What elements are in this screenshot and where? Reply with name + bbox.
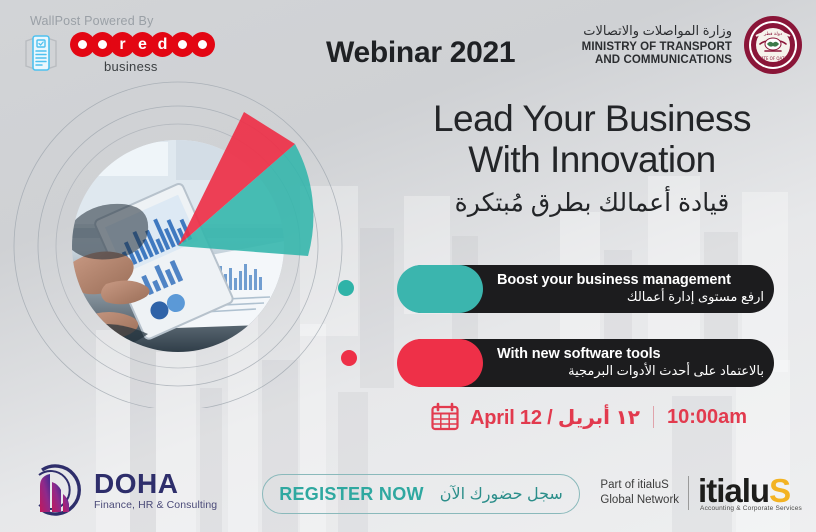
doha-gradient-arc-logo [28, 462, 86, 518]
feature-cap-red [397, 339, 483, 387]
feature-0-arabic: ارفع مستوى إدارة أعمالك [497, 289, 764, 306]
headline-block: Lead Your Business With Innovation قيادة… [384, 98, 800, 219]
feature-1-arabic: بالاعتماد على أحدث الأدوات البرمجية [497, 363, 764, 380]
wallpost-powered-label: WallPost Powered By [30, 14, 233, 28]
register-label-english: REGISTER NOW [279, 484, 424, 505]
qatar-state-emblem: دولة قطر STATE OF QATAR [742, 14, 804, 76]
datetime-row: April 12 / ١٢ أبريل 10:00am [430, 402, 747, 432]
svg-text:STATE OF QATAR: STATE OF QATAR [756, 56, 790, 61]
itialus-partof-line1: Part of itialuS [600, 478, 679, 494]
feature-1-english: With new software tools [497, 346, 764, 363]
hero-circle-graphic [8, 78, 388, 408]
webinar-title: Webinar 2021 [326, 36, 515, 70]
webinar-date: April 12 / ١٢ أبريل [470, 405, 640, 430]
ministry-name-arabic: وزارة المواصلات والاتصالات [582, 23, 732, 39]
itialus-partof-line2: Global Network [600, 493, 679, 509]
teal-dot [338, 280, 354, 296]
itialus-partof-text: Part of itialuS Global Network [600, 478, 679, 509]
itialus-word-s: S [769, 472, 790, 509]
ministry-en-line1: MINISTRY OF TRANSPORT [582, 41, 732, 54]
register-now-button[interactable]: REGISTER NOW سجل حضورك الآن [262, 474, 580, 514]
register-label-arabic: سجل حضورك الآن [440, 484, 563, 504]
webinar-banner: WallPost Powered By [0, 0, 816, 532]
ministry-logo-block: وزارة المواصلات والاتصالات MINISTRY OF T… [582, 14, 804, 76]
document-stack-icon [18, 31, 64, 75]
calendar-icon [430, 402, 460, 432]
ministry-en-line2: AND COMMUNICATIONS [582, 54, 732, 67]
wallpost-ooredoo-lockup: WallPost Powered By [18, 14, 233, 75]
feature-cap-teal [397, 265, 483, 313]
itialus-tagline: Accounting & Corporate Services [700, 506, 802, 513]
webinar-time: 10:00am [667, 406, 747, 429]
feature-pill-software: With new software tools بالاعتماد على أح… [398, 339, 774, 387]
ministry-name-english: MINISTRY OF TRANSPORT AND COMMUNICATIONS [582, 41, 732, 67]
feature-0-english: Boost your business management [497, 272, 764, 289]
svg-text:دولة قطر: دولة قطر [763, 32, 782, 37]
itialus-logo-block: Part of itialuS Global Network itialuS A… [600, 474, 802, 513]
headline-line-2: With Innovation [384, 139, 800, 180]
ooredoo-business-label: business [104, 59, 158, 74]
red-dot [341, 350, 357, 366]
headline-line-1: Lead Your Business [384, 98, 800, 139]
itialus-divider [688, 476, 689, 510]
headline-arabic: قيادة أعمالك بطرق مُبتكرة [384, 188, 800, 219]
feature-pill-boost: Boost your business management ارفع مستو… [398, 265, 774, 313]
doha-name: DOHA [94, 470, 217, 498]
datetime-divider [653, 406, 654, 428]
doha-tagline: Finance, HR & Consulting [94, 500, 217, 511]
doha-logo: DOHA Finance, HR & Consulting [28, 462, 217, 518]
itialus-wordmark: itialuS [698, 474, 802, 507]
ooredoo-wordmark: r e d [70, 32, 210, 57]
itialus-word-main: itialu [698, 472, 769, 509]
ooredoo-o4 [190, 32, 215, 57]
